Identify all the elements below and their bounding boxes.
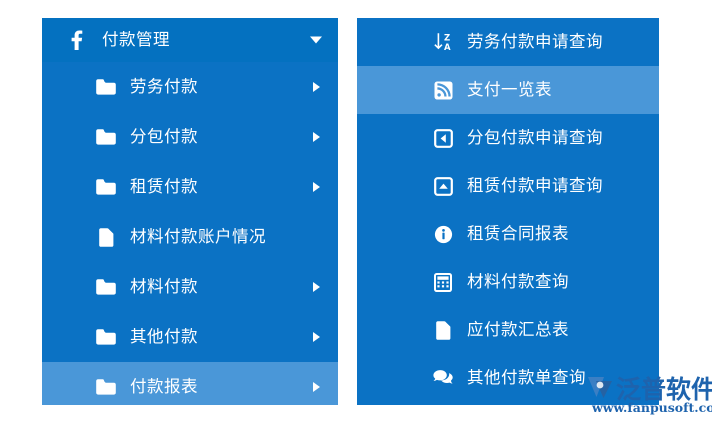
submenu-item-label: 应付款汇总表 xyxy=(467,322,569,339)
submenu-item-payment-list[interactable]: 支付一览表 xyxy=(357,66,659,114)
chevron-right-icon[interactable] xyxy=(313,332,320,342)
menu-item-labor-payment[interactable]: 劳务付款 xyxy=(42,62,338,112)
menu-item-label: 分包付款 xyxy=(130,129,198,146)
menu-header-payment-management[interactable]: 付款管理 xyxy=(42,18,338,62)
comments-icon xyxy=(433,368,453,388)
menu-item-label: 劳务付款 xyxy=(130,79,198,96)
menu-item-lease-payment[interactable]: 租赁付款 xyxy=(42,162,338,212)
payment-report-submenu-panel: Z A 劳务付款申请查询 支付一览表 xyxy=(357,18,659,405)
submenu-item-lease-contract-report[interactable]: 租赁合同报表 xyxy=(357,210,659,258)
document-icon xyxy=(433,320,453,340)
folder-icon xyxy=(96,327,116,347)
menu-item-payment-report[interactable]: 付款报表 xyxy=(42,362,338,405)
submenu-item-subcontract-payment-application-query[interactable]: 分包付款申请查询 xyxy=(357,114,659,162)
svg-text:A: A xyxy=(444,43,451,52)
chevron-down-icon[interactable] xyxy=(310,37,322,44)
chevron-right-icon[interactable] xyxy=(313,82,320,92)
screenshot-canvas: 付款管理 劳务付款 分包付款 租赁付款 xyxy=(0,0,712,428)
menu-item-label: 付款报表 xyxy=(130,379,198,396)
chevron-right-icon[interactable] xyxy=(313,382,320,392)
info-circle-icon xyxy=(433,224,453,244)
document-icon xyxy=(96,227,116,247)
submenu-item-labor-payment-application-query[interactable]: Z A 劳务付款申请查询 xyxy=(357,18,659,66)
chevron-right-icon[interactable] xyxy=(313,282,320,292)
svg-text:Z: Z xyxy=(444,34,451,44)
menu-item-other-payment[interactable]: 其他付款 xyxy=(42,312,338,362)
chevron-right-icon[interactable] xyxy=(313,132,320,142)
submenu-item-payable-summary-report[interactable]: 应付款汇总表 xyxy=(357,306,659,354)
submenu-item-label: 材料付款查询 xyxy=(467,274,569,291)
submenu-item-label: 租赁付款申请查询 xyxy=(467,178,603,195)
menu-header-label: 付款管理 xyxy=(102,32,170,49)
payment-management-menu-panel: 付款管理 劳务付款 分包付款 租赁付款 xyxy=(42,18,338,405)
folder-icon xyxy=(96,127,116,147)
menu-item-label: 租赁付款 xyxy=(130,179,198,196)
submenu-item-label: 劳务付款申请查询 xyxy=(467,34,603,51)
folder-icon xyxy=(96,377,116,397)
submenu-item-label: 分包付款申请查询 xyxy=(467,130,603,147)
menu-item-label: 材料付款账户情况 xyxy=(130,229,266,246)
facebook-f-icon xyxy=(66,30,86,50)
menu-item-subcontract-payment[interactable]: 分包付款 xyxy=(42,112,338,162)
chevron-right-icon[interactable] xyxy=(313,182,320,192)
submenu-item-material-payment-query[interactable]: 材料付款查询 xyxy=(357,258,659,306)
menu-item-material-payment-account[interactable]: 材料付款账户情况 xyxy=(42,212,338,262)
folder-icon xyxy=(96,177,116,197)
caret-square-left-icon xyxy=(433,128,453,148)
rss-square-icon xyxy=(433,80,453,100)
submenu-item-label: 支付一览表 xyxy=(467,82,552,99)
calculator-icon xyxy=(433,272,453,292)
menu-item-material-payment[interactable]: 材料付款 xyxy=(42,262,338,312)
sort-alpha-down-icon: Z A xyxy=(433,32,453,52)
caret-square-up-icon xyxy=(433,176,453,196)
submenu-item-other-payment-voucher-query[interactable]: 其他付款单查询 xyxy=(357,354,659,402)
folder-icon xyxy=(96,77,116,97)
folder-icon xyxy=(96,277,116,297)
submenu-item-label: 其他付款单查询 xyxy=(467,370,586,387)
submenu-item-label: 租赁合同报表 xyxy=(467,226,569,243)
submenu-item-lease-payment-application-query[interactable]: 租赁付款申请查询 xyxy=(357,162,659,210)
menu-item-label: 材料付款 xyxy=(130,279,198,296)
menu-item-label: 其他付款 xyxy=(130,329,198,346)
